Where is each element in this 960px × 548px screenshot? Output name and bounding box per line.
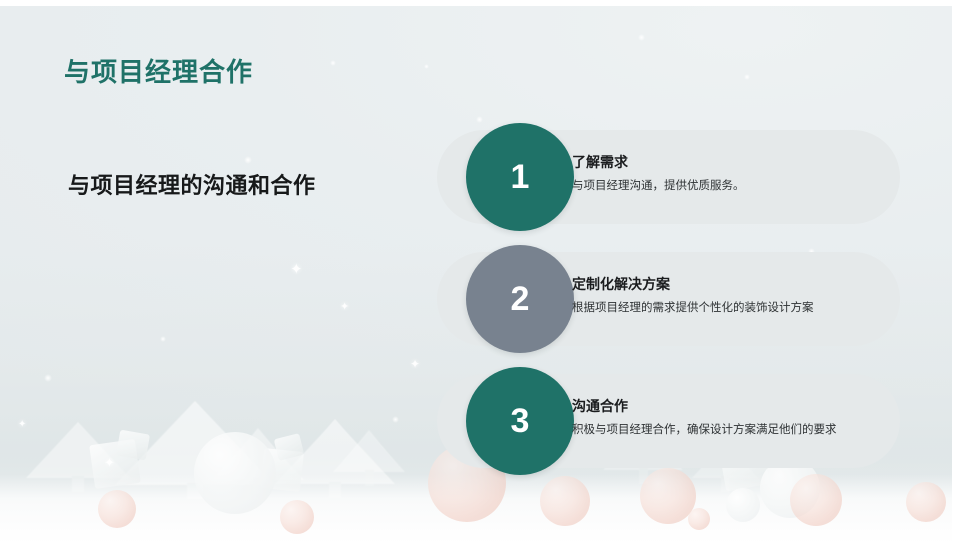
step-number-badge: 3: [466, 367, 574, 475]
list-item[interactable]: 2 定制化解决方案 根据项目经理的需求提供个性化的装饰设计方案: [437, 252, 900, 346]
gift-box-icon: [260, 448, 304, 492]
page-title: 与项目经理合作: [64, 52, 253, 89]
step-description: 与项目经理沟通，提供优质服务。: [572, 179, 882, 194]
snow-sparkle: [330, 60, 336, 66]
list-item[interactable]: 3 沟通合作 积极与项目经理合作，确保设计方案满足他们的要求: [437, 374, 900, 468]
snow-sparkle: [424, 64, 429, 69]
step-description: 根据项目经理的需求提供个性化的装饰设计方案: [572, 301, 882, 316]
snow-star-icon: ✦: [410, 358, 420, 370]
step-number-badge: 2: [466, 245, 574, 353]
step-text-block: 沟通合作 积极与项目经理合作，确保设计方案满足他们的要求: [572, 398, 882, 437]
snow-star-icon: ✦: [18, 420, 26, 430]
snow-sparkle: [244, 156, 252, 164]
step-title: 定制化解决方案: [572, 276, 882, 294]
gift-box-icon: [116, 430, 150, 461]
pine-tree-icon: [208, 474, 308, 494]
step-number: 3: [511, 402, 530, 441]
list-item[interactable]: 1 了解需求 与项目经理沟通，提供优质服务。: [437, 130, 900, 224]
ornament-ball: [906, 482, 946, 522]
step-number: 2: [511, 280, 530, 319]
ornament-ball: [280, 500, 314, 534]
ornament-ball: [194, 432, 276, 514]
steps-list: 1 了解需求 与项目经理沟通，提供优质服务。 2 定制化解决方案 根据项目经理的…: [437, 130, 900, 496]
pine-tree-icon: [270, 478, 400, 498]
section-subtitle: 与项目经理的沟通和合作: [68, 168, 316, 200]
slide-canvas: ✦ ✦ ✦ ✦ ✦ 与项目经理合作 与项目经理的沟通和合作 1 了解需求 与项目…: [0, 6, 952, 544]
ornament-ball: [98, 490, 136, 528]
presentation-slide: ✦ ✦ ✦ ✦ ✦ 与项目经理合作 与项目经理的沟通和合作 1 了解需求 与项目…: [0, 0, 960, 548]
snow-sparkle: [476, 116, 483, 123]
pine-tree-icon: [330, 465, 408, 486]
snow-sparkle: [638, 34, 645, 41]
snow-star-icon: ✦: [340, 302, 349, 313]
snow-star-icon: ✦: [290, 262, 303, 277]
snow-sparkle: [392, 416, 399, 423]
ornament-ball: [688, 508, 710, 530]
snow-sparkle: [160, 336, 166, 342]
snow-sparkle: [744, 74, 750, 80]
step-text-block: 了解需求 与项目经理沟通，提供优质服务。: [572, 154, 882, 193]
pine-tree-icon: [18, 481, 138, 492]
step-title: 沟通合作: [572, 398, 882, 416]
snow-star-icon: ✦: [104, 456, 115, 469]
step-number: 1: [511, 158, 530, 197]
step-number-badge: 1: [466, 123, 574, 231]
snow-sparkle: [44, 374, 52, 382]
gift-box-icon: [274, 433, 305, 461]
step-text-block: 定制化解决方案 根据项目经理的需求提供个性化的装饰设计方案: [572, 276, 882, 315]
gift-box-icon: [89, 439, 141, 489]
step-title: 了解需求: [572, 154, 882, 172]
step-description: 积极与项目经理合作，确保设计方案满足他们的要求: [572, 423, 882, 438]
